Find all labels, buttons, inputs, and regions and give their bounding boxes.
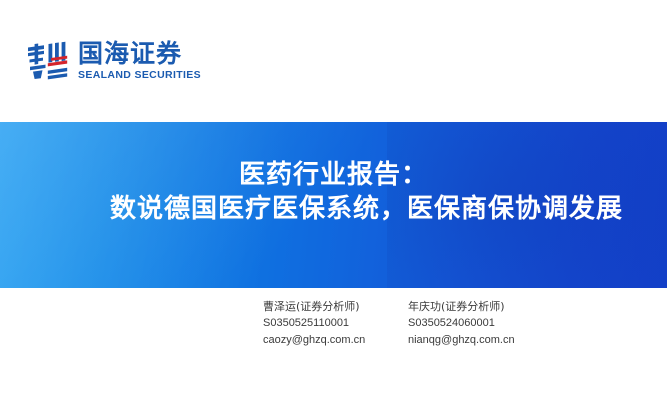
analyst-license-id: S0350524060001 <box>408 315 553 332</box>
analyst-name: 曹泽运(证券分析师) <box>263 298 408 315</box>
page-header: 国海证券 SEALAND SECURITIES <box>0 0 667 122</box>
analyst-entry: 年庆功(证券分析师) S0350524060001 nianqg@ghzq.co… <box>408 298 553 349</box>
brand-name-en: SEALAND SECURITIES <box>78 70 201 81</box>
brand-logo-text: 国海证券 SEALAND SECURITIES <box>78 41 201 81</box>
analyst-license-id: S0350525110001 <box>263 315 408 332</box>
brand-name-cn: 国海证券 <box>78 41 201 67</box>
analyst-entry: 曹泽运(证券分析师) S0350525110001 caozy@ghzq.com… <box>263 298 408 349</box>
analyst-name: 年庆功(证券分析师) <box>408 298 553 315</box>
analyst-email[interactable]: caozy@ghzq.com.cn <box>263 332 408 349</box>
report-title-line-1: 医药行业报告： <box>0 161 667 191</box>
brand-logo[interactable]: 国海证券 SEALAND SECURITIES <box>27 40 201 82</box>
banner-title-group: 医药行业报告： 数说德国医疗医保系统，医保商保协调发展 <box>0 122 667 288</box>
sealand-logo-mark-icon <box>27 40 69 82</box>
report-title-line-2: 数说德国医疗医保系统，医保商保协调发展 <box>110 195 623 225</box>
analyst-credits: 曹泽运(证券分析师) S0350525110001 caozy@ghzq.com… <box>263 298 553 349</box>
analyst-email[interactable]: nianqg@ghzq.com.cn <box>408 332 553 349</box>
title-banner: 医药行业报告： 数说德国医疗医保系统，医保商保协调发展 <box>0 122 667 288</box>
